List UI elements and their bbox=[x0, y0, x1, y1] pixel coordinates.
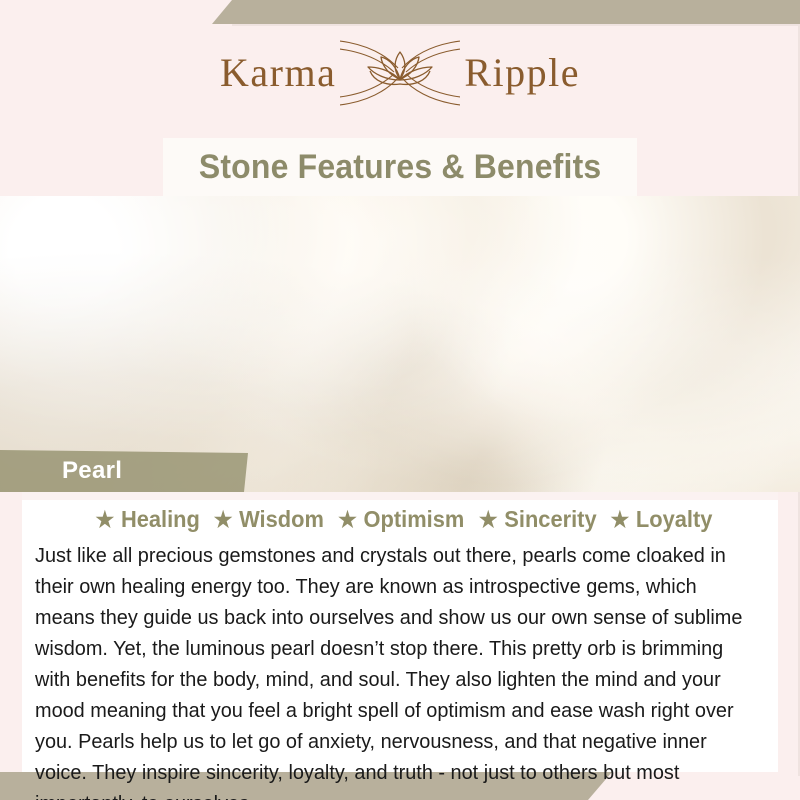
panel-top-edge bbox=[22, 492, 778, 500]
star-icon: ★ bbox=[214, 509, 233, 531]
infographic-page: Karma bbox=[0, 0, 800, 800]
star-icon: ★ bbox=[96, 509, 115, 531]
benefit-label: Healing bbox=[121, 506, 200, 533]
brand-name-left: Karma bbox=[220, 53, 336, 93]
benefit-item: ★ Sincerity bbox=[471, 506, 596, 533]
star-icon: ★ bbox=[338, 509, 357, 531]
frame-line-top bbox=[232, 24, 800, 26]
corner-wedge-top-right bbox=[212, 0, 800, 24]
star-icon: ★ bbox=[479, 509, 498, 531]
benefit-label: Sincerity bbox=[504, 506, 596, 533]
brand-name-right: Ripple bbox=[464, 53, 580, 93]
benefit-label: Wisdom bbox=[239, 506, 324, 533]
page-title: Stone Features & Benefits bbox=[199, 148, 602, 187]
stone-name-band: Pearl bbox=[0, 450, 248, 492]
brand-logo[interactable]: Karma bbox=[0, 34, 800, 112]
content-panel: ★ Healing ★ Wisdom ★ Optimism ★ Sincerit… bbox=[22, 492, 778, 772]
benefit-label: Optimism bbox=[363, 506, 464, 533]
stone-description: Just like all precious gemstones and cry… bbox=[35, 540, 747, 800]
benefit-item: ★ Healing bbox=[88, 506, 200, 533]
section-title-banner: Stone Features & Benefits bbox=[163, 138, 637, 196]
benefit-item: ★ Loyalty bbox=[602, 506, 712, 533]
benefits-list: ★ Healing ★ Wisdom ★ Optimism ★ Sincerit… bbox=[22, 506, 778, 533]
benefit-item: ★ Wisdom bbox=[206, 506, 324, 533]
benefit-item: ★ Optimism bbox=[330, 506, 464, 533]
pearl-photo bbox=[0, 196, 800, 492]
stone-name: Pearl bbox=[62, 457, 122, 485]
benefit-label: Loyalty bbox=[635, 506, 712, 533]
star-icon: ★ bbox=[610, 509, 629, 531]
photo-sheen bbox=[0, 196, 800, 492]
lotus-icon bbox=[340, 38, 460, 108]
